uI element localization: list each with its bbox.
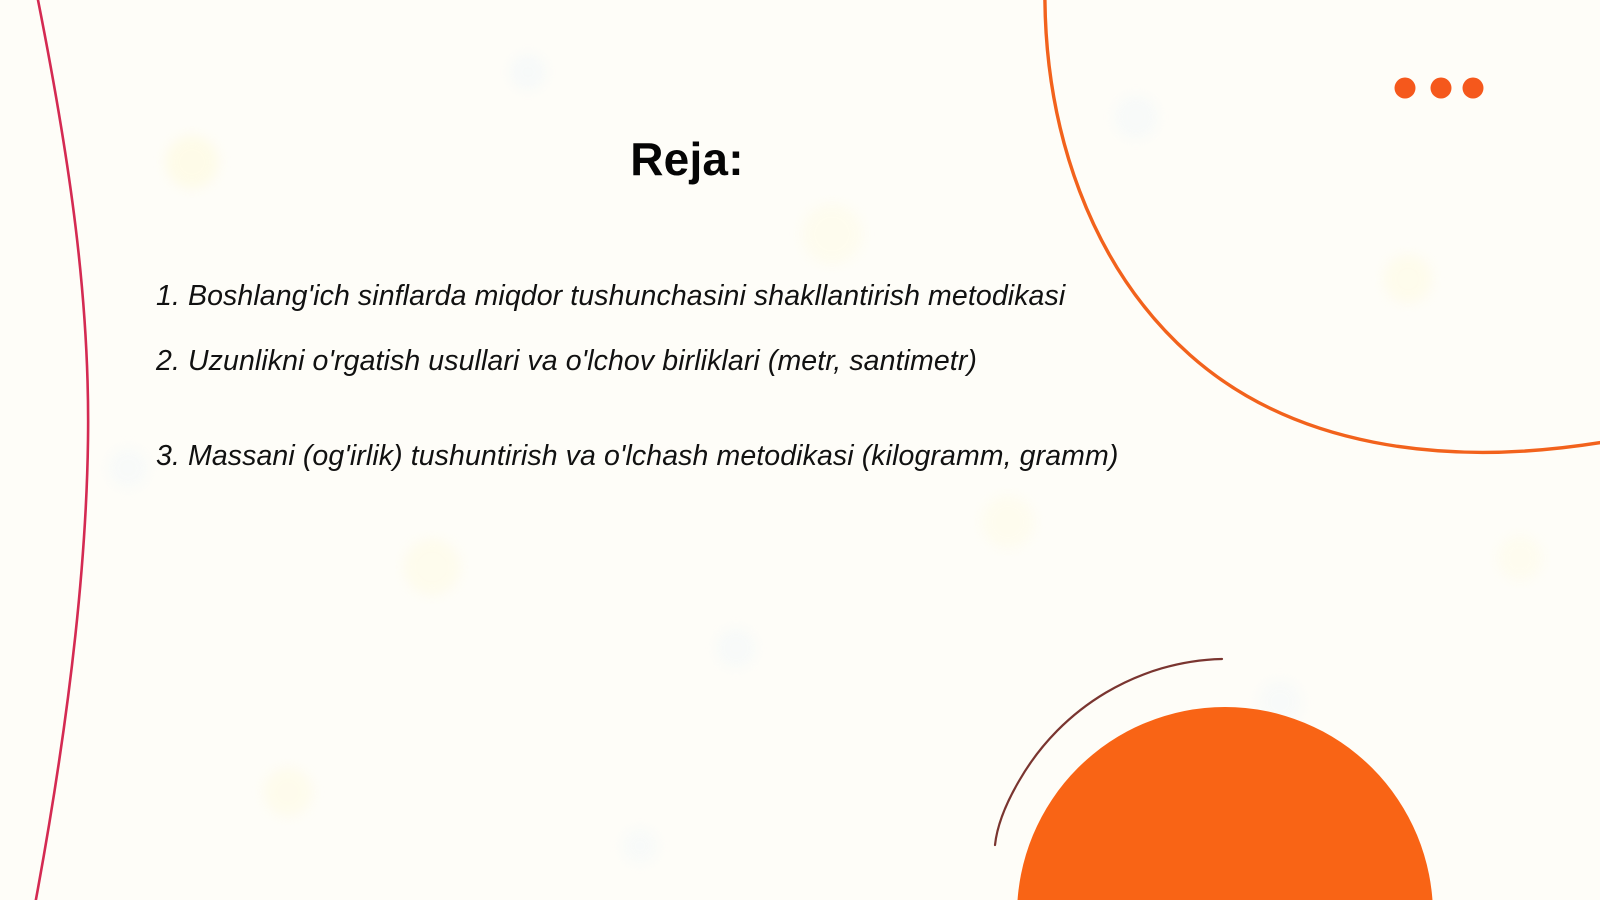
orange-dot-1 <box>1395 78 1416 99</box>
plan-list: 1. Boshlang'ich sinflarda miqdor tushunc… <box>156 277 1136 476</box>
orange-filled-circle-shape <box>1017 707 1433 900</box>
orange-dot-2 <box>1431 78 1452 99</box>
list-item: 2. Uzunlikni o'rgatish usullari va o'lch… <box>156 342 1136 381</box>
slide-canvas: Reja: 1. Boshlang'ich sinflarda miqdor t… <box>0 0 1600 900</box>
list-item: 3. Massani (og'irlik) tushuntirish va o'… <box>156 437 1136 476</box>
page-title: Reja: <box>0 132 1374 186</box>
orange-dot-3 <box>1463 78 1484 99</box>
list-item: 1. Boshlang'ich sinflarda miqdor tushunc… <box>156 277 1136 316</box>
